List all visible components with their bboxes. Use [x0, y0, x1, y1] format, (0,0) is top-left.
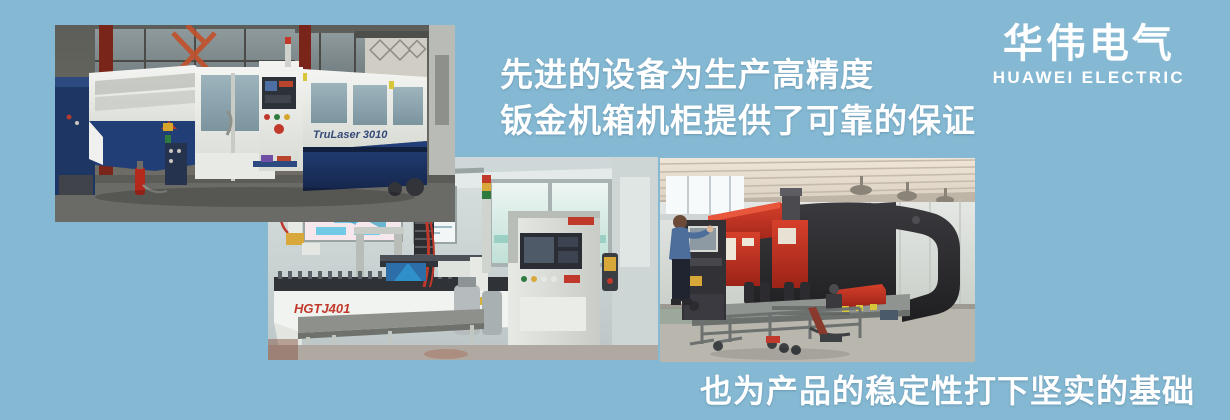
company-equipment-banner: TruLaser 3010: [0, 0, 1230, 420]
punch-press-illustration: [660, 158, 975, 362]
headline-text: 先进的设备为生产高精度 钣金机箱机柜提供了可靠的保证: [500, 52, 976, 144]
headline-line-2: 钣金机箱机柜提供了可靠的保证: [500, 98, 976, 144]
tagline-text: 也为产品的稳定性打下坚实的基础: [700, 371, 1195, 411]
laser-machine-model-label: TruLaser 3010: [313, 129, 388, 141]
photo-laser-cutting-machine: TruLaser 3010: [55, 25, 455, 222]
plasma-machine-model-label: HGTJ401: [294, 301, 350, 316]
photo-cnc-turret-punch-press: [660, 158, 975, 362]
headline-line-1: 先进的设备为生产高精度: [500, 52, 976, 98]
logo-english-name: HUAWEI ELECTRIC: [993, 68, 1185, 88]
laser-machine-illustration: TruLaser 3010: [55, 25, 455, 222]
company-logo[interactable]: 华伟电气 HUAWEI ELECTRIC: [993, 22, 1185, 88]
logo-chinese-name: 华伟电气: [993, 22, 1185, 66]
